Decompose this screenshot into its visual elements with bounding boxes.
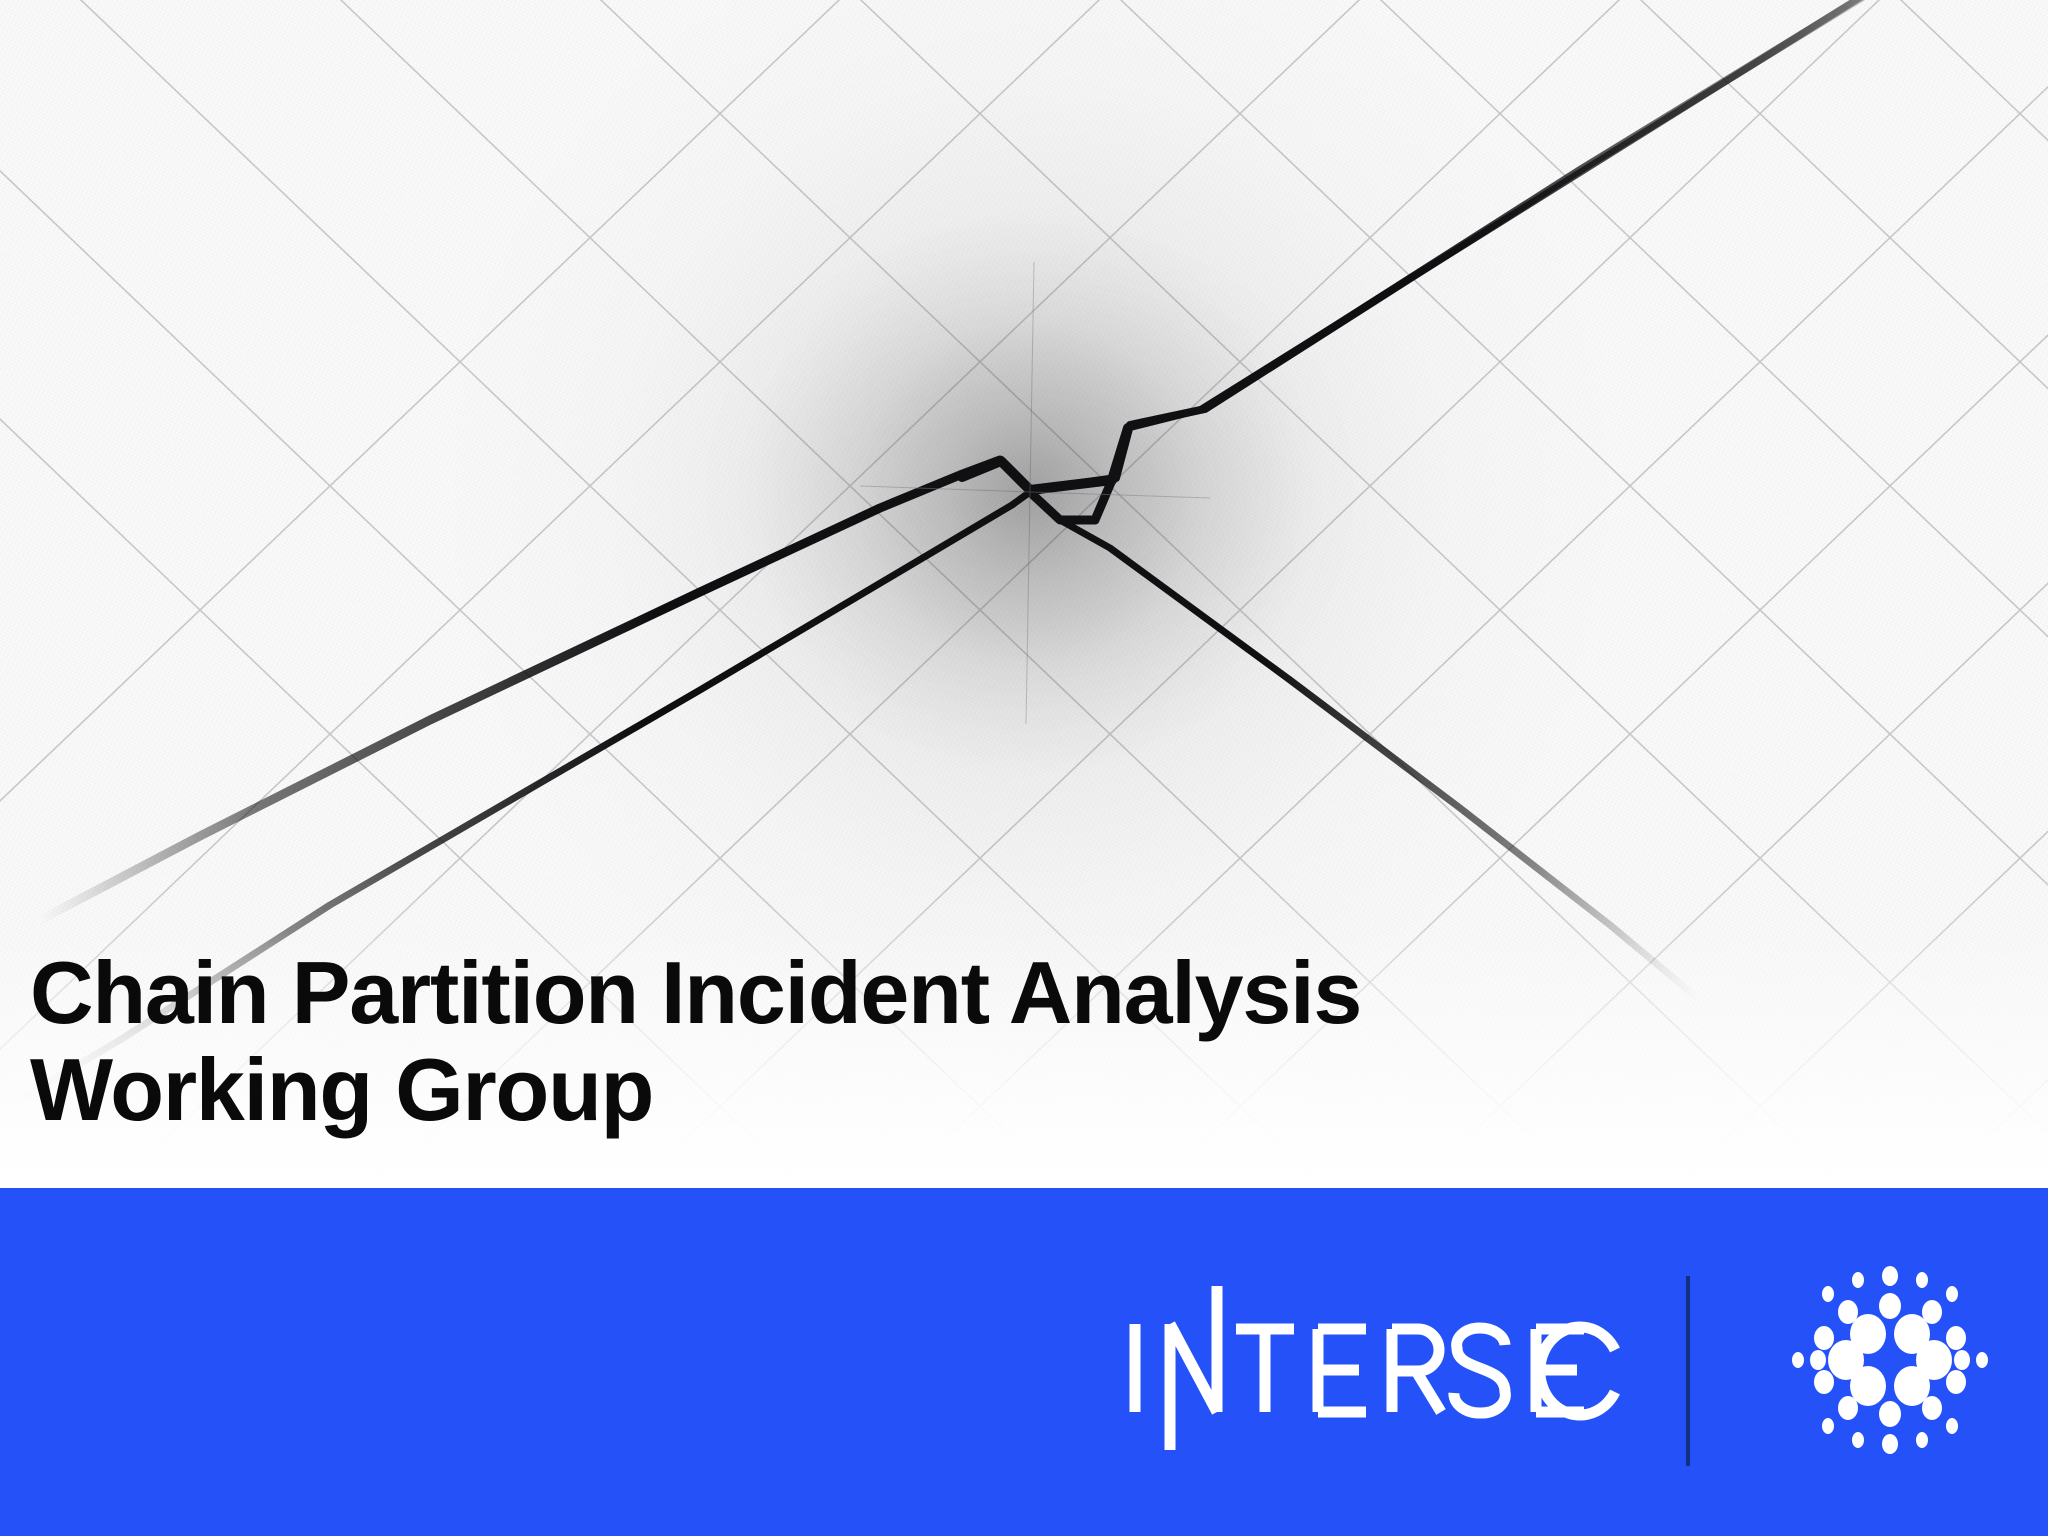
banner-slide: Chain Partition Incident Analysis Workin…: [0, 0, 2048, 1536]
cardano-constellation-icon: [1790, 1250, 1990, 1470]
page-title: Chain Partition Incident Analysis Workin…: [30, 944, 1450, 1138]
intersect-wordmark-icon: TM: [1128, 1282, 1648, 1454]
intersect-logo[interactable]: TM: [1128, 1282, 1648, 1454]
logo-divider: [1686, 1276, 1690, 1466]
cardano-logo[interactable]: [1790, 1250, 1990, 1470]
brand-footer-bar: [0, 1188, 2048, 1536]
